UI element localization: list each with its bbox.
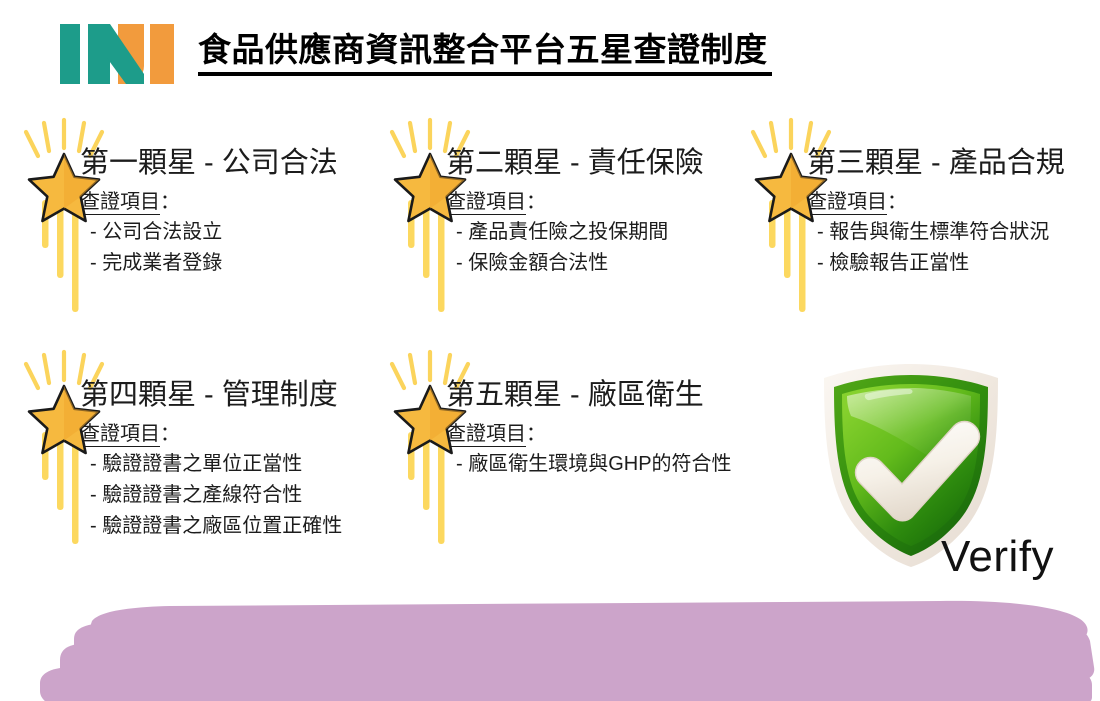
items-label-text-1: 查證項目 [80, 191, 160, 215]
items-label-text-4: 查證項目 [80, 423, 160, 447]
items-label-colon-1: ： [160, 191, 180, 213]
star-title-3: 第三顆星 - 產品合規 [807, 148, 1065, 182]
title-underline [198, 72, 772, 76]
purple-brush-stroke [0, 597, 1100, 701]
star-header-5: 第五顆星 - 廠區衛生 [384, 352, 732, 414]
list-item: - 驗證證書之產線符合性 [90, 480, 342, 511]
items-label-colon-3: ： [887, 191, 907, 213]
star-card-2: 第二顆星 - 責任保險 查證項目： - 產品責任險之投保期間 - 保險金額合法性 [384, 120, 704, 279]
star-card-5: 第五顆星 - 廠區衛生 查證項目： - 廠區衛生環境與GHP的符合性 [384, 352, 732, 480]
star-body-3: 查證項目： - 報告與衛生標準符合狀況 - 檢驗報告正當性 [807, 188, 1065, 279]
items-label-wrap-4: 查證項目： [80, 420, 342, 449]
page-header: 食品供應商資訊整合平台五星查證制度 [58, 22, 768, 86]
star-title-1: 第一顆星 - 公司合法 [80, 148, 338, 182]
star-header-2: 第二顆星 - 責任保險 [384, 120, 704, 182]
items-label-2: 查證項目： [446, 188, 546, 217]
items-label-colon-2: ： [526, 191, 546, 213]
list-item: - 產品責任險之投保期間 [456, 217, 704, 248]
star-title-4: 第四顆星 - 管理制度 [80, 380, 338, 414]
list-item: - 報告與衛生標準符合狀況 [817, 217, 1065, 248]
star-body-2: 查證項目： - 產品責任險之投保期間 - 保險金額合法性 [446, 188, 704, 279]
items-label-wrap-5: 查證項目： [446, 420, 732, 449]
star-header-1: 第一顆星 - 公司合法 [18, 120, 338, 182]
items-label-text-2: 查證項目 [446, 191, 526, 215]
items-label-1: 查證項目： [80, 188, 180, 217]
items-label-wrap-3: 查證項目： [807, 188, 1065, 217]
page-title: 食品供應商資訊整合平台五星查證制度 [198, 32, 768, 75]
items-label-colon-5: ： [526, 423, 546, 445]
list-item: - 檢驗報告正當性 [817, 248, 1065, 279]
star-body-5: 查證項目： - 廠區衛生環境與GHP的符合性 [446, 420, 732, 480]
verify-label: Verify [941, 532, 1054, 582]
star-header-3: 第三顆星 - 產品合規 [745, 120, 1065, 182]
list-item: - 完成業者登錄 [90, 248, 338, 279]
star-title-2: 第二顆星 - 責任保險 [446, 148, 704, 182]
items-label-wrap-2: 查證項目： [446, 188, 704, 217]
list-item: - 保險金額合法性 [456, 248, 704, 279]
star-card-1: 第一顆星 - 公司合法 查證項目： - 公司合法設立 - 完成業者登錄 [18, 120, 338, 279]
items-label-3: 查證項目： [807, 188, 907, 217]
items-label-5: 查證項目： [446, 420, 546, 449]
star-title-5: 第五顆星 - 廠區衛生 [446, 380, 704, 414]
star-body-1: 查證項目： - 公司合法設立 - 完成業者登錄 [80, 188, 338, 279]
ifi-logo-icon [58, 22, 176, 86]
star-card-3: 第三顆星 - 產品合規 查證項目： - 報告與衛生標準符合狀況 - 檢驗報告正當… [745, 120, 1065, 279]
star-body-4: 查證項目： - 驗證證書之單位正當性 - 驗證證書之產線符合性 - 驗證證書之廠… [80, 420, 342, 542]
items-label-4: 查證項目： [80, 420, 180, 449]
list-item: - 公司合法設立 [90, 217, 338, 248]
items-label-text-3: 查證項目 [807, 191, 887, 215]
star-card-4: 第四顆星 - 管理制度 查證項目： - 驗證證書之單位正當性 - 驗證證書之產線… [18, 352, 342, 542]
list-item: - 驗證證書之廠區位置正確性 [90, 511, 342, 542]
items-label-text-5: 查證項目 [446, 423, 526, 447]
page-title-text: 食品供應商資訊整合平台五星查證制度 [198, 31, 768, 68]
list-item: - 廠區衛生環境與GHP的符合性 [456, 449, 732, 480]
star-header-4: 第四顆星 - 管理制度 [18, 352, 342, 414]
items-label-colon-4: ： [160, 423, 180, 445]
items-label-wrap-1: 查證項目： [80, 188, 338, 217]
list-item: - 驗證證書之單位正當性 [90, 449, 342, 480]
